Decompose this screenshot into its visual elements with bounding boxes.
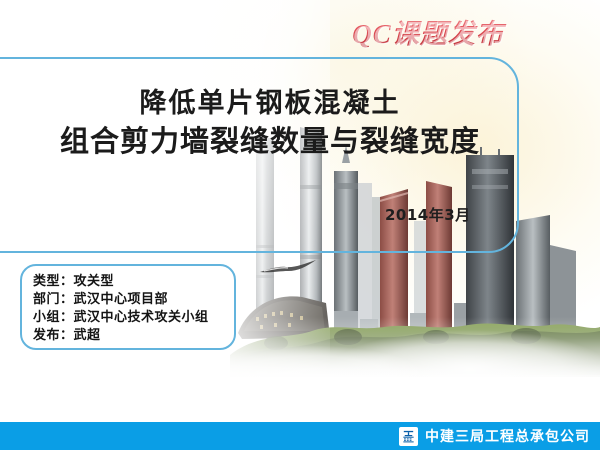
seagull-icon — [258, 258, 318, 280]
qc-topic-kicker: QC课题发布 — [348, 12, 508, 51]
meta-label-type: 类型： — [33, 274, 74, 289]
meta-label-group: 小组： — [33, 310, 74, 325]
title-line-2: 组合剪力墙裂缝数量与裂缝宽度 — [0, 124, 540, 158]
footer-company-name: 中建三局工程总承包公司 — [425, 426, 590, 446]
meta-row-department: 部门：武汉中心项目部 — [33, 291, 234, 309]
meta-label-department: 部门： — [33, 292, 74, 307]
meta-value-department: 武汉中心项目部 — [74, 292, 169, 307]
cscec-logo-icon — [399, 427, 418, 446]
title-line-1: 降低单片钢板混凝土 — [0, 88, 540, 120]
cloud-mist-layer — [180, 317, 600, 422]
meta-value-type: 攻关型 — [74, 274, 115, 289]
presentation-title-slide: QC课题发布 降低单片钢板混凝土 组合剪力墙裂缝数量与裂缝宽度 2014年3月 … — [0, 0, 600, 450]
meta-info-panel: 类型：攻关型 部门：武汉中心项目部 小组：武汉中心技术攻关小组 发布：武超 — [20, 264, 236, 350]
meta-row-type: 类型：攻关型 — [33, 273, 234, 291]
meta-value-presenter: 武超 — [74, 328, 101, 343]
slide-date: 2014年3月 — [385, 204, 471, 225]
meta-label-presenter: 发布： — [33, 328, 74, 343]
meta-value-group: 武汉中心技术攻关小组 — [74, 310, 209, 325]
bottom-haze — [0, 364, 600, 424]
footer-bar: 中建三局工程总承包公司 — [0, 422, 600, 450]
meta-row-group: 小组：武汉中心技术攻关小组 — [33, 309, 234, 327]
page-title: 降低单片钢板混凝土 组合剪力墙裂缝数量与裂缝宽度 — [0, 88, 540, 158]
meta-row-presenter: 发布：武超 — [33, 327, 234, 345]
